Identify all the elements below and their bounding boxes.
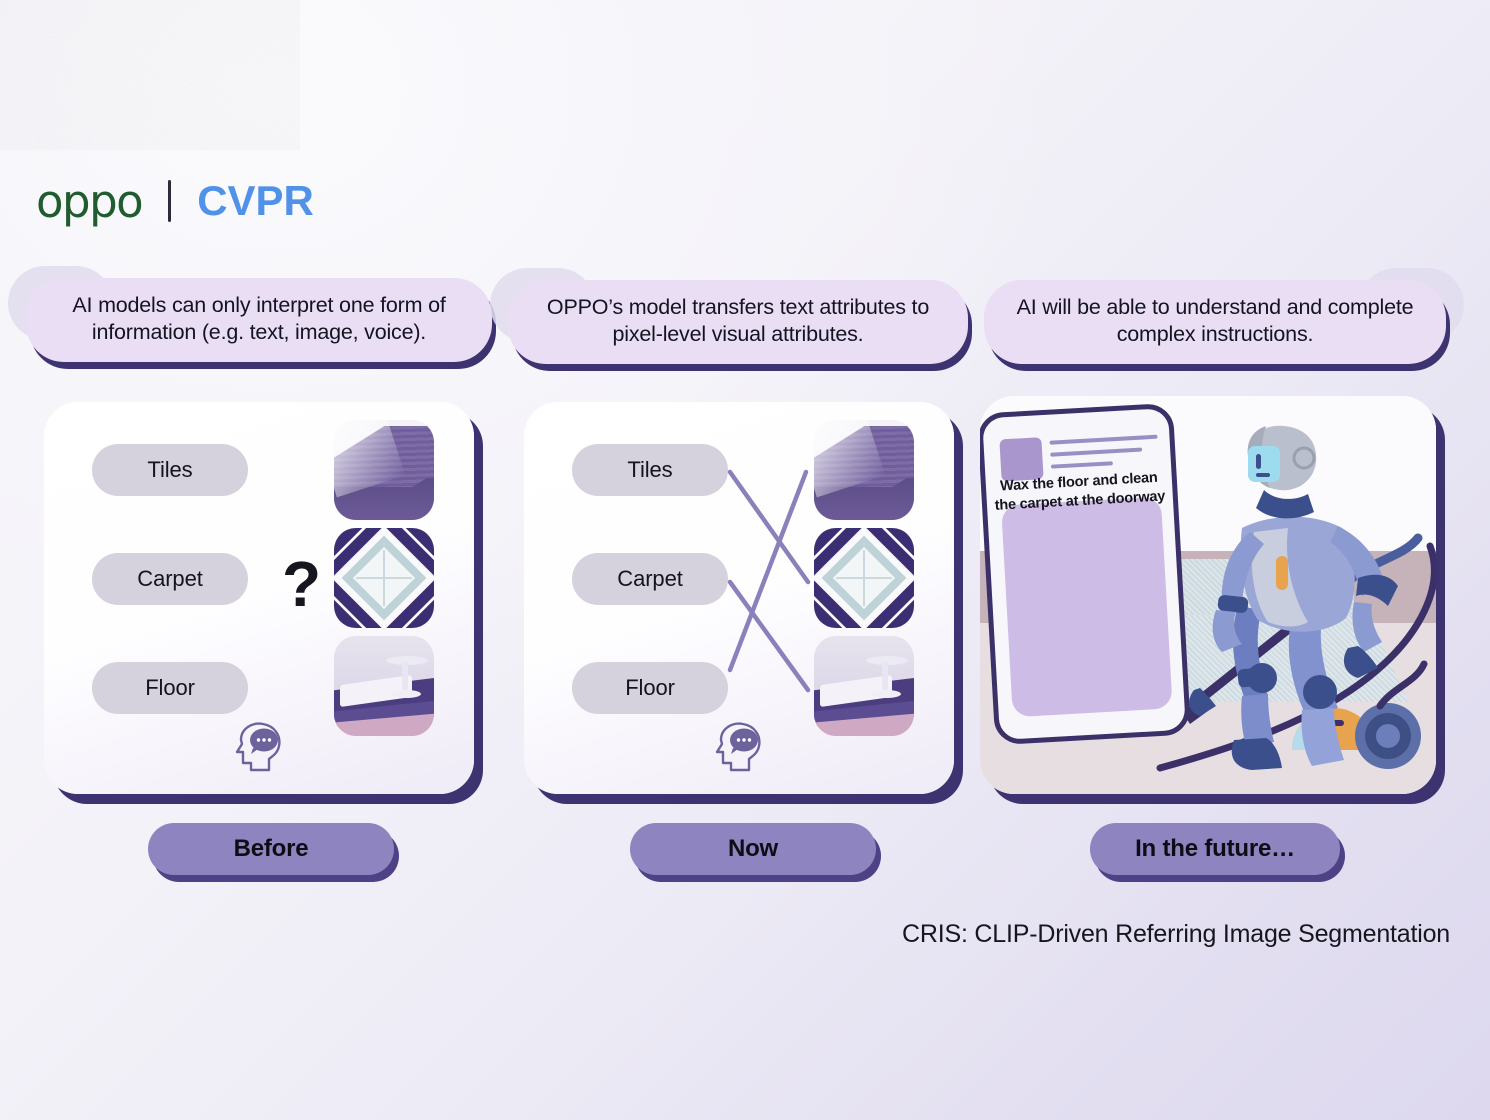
callout-future: AI will be able to understand and comple… [984, 280, 1446, 364]
phone-text-line [1050, 448, 1142, 457]
robot-hand-right [1344, 646, 1378, 678]
label-pill-tiles[interactable]: Tiles [92, 444, 248, 496]
label-pill-floor[interactable]: Floor [92, 662, 248, 714]
question-mark: ? [282, 552, 321, 616]
label-pill-carpet[interactable]: Carpet [572, 553, 728, 605]
callout-future-text: AI will be able to understand and comple… [984, 280, 1446, 364]
robot-foot-back [1232, 738, 1282, 770]
paper-caption: CRIS: CLIP-Driven Referring Image Segmen… [0, 920, 1450, 949]
callout-before: AI models can only interpret one form of… [26, 278, 492, 362]
cvpr-logo: CVPR [197, 180, 314, 222]
robot-eye [1256, 454, 1261, 469]
logo-divider [168, 180, 171, 222]
callout-before-text: AI models can only interpret one form of… [26, 278, 492, 362]
brand-header: oppo CVPR [36, 172, 314, 230]
thumb-crosshair-horizontal [356, 577, 412, 579]
floor-table-thumbnail[interactable] [814, 636, 914, 736]
thumb-table-stem [882, 662, 888, 692]
phone-message-card [1001, 497, 1173, 718]
planks-thumbnail[interactable] [814, 420, 914, 520]
thumb-table-base [871, 690, 901, 698]
robot-vacuuming-illustration: Wax the floor and clean the carpet at th… [980, 396, 1436, 794]
head-speech-bubble-icon [231, 718, 287, 778]
thumb-crosshair-horizontal [836, 577, 892, 579]
robot-head [1248, 426, 1317, 519]
head-speech-bubble-icon [711, 718, 767, 778]
stage-label-future[interactable]: In the future… [1090, 823, 1340, 875]
connector-carpet-to-floor [730, 582, 808, 690]
floor-table-thumbnail[interactable] [334, 636, 434, 736]
phone-text-line [1050, 435, 1158, 445]
stage-label-now[interactable]: Now [630, 823, 876, 875]
robot-figure [1142, 420, 1436, 790]
thumbnail-list-now [814, 420, 914, 736]
carpet-diamond-thumbnail[interactable] [814, 528, 914, 628]
grain-overlay [0, 0, 300, 150]
phone-text-line [1051, 461, 1113, 468]
label-list-now: Tiles Carpet Floor [572, 444, 728, 714]
panel-before: Tiles Carpet Floor ? [44, 402, 474, 794]
thumbnail-list-before [334, 420, 434, 736]
label-pill-carpet[interactable]: Carpet [92, 553, 248, 605]
oppo-logo: oppo [36, 179, 142, 224]
stage-label-before[interactable]: Before [148, 823, 394, 875]
robot-neck [1256, 490, 1314, 518]
panel-now: Tiles Carpet Floor [524, 402, 954, 794]
robot-knee-front [1303, 675, 1337, 709]
robot-chest-light [1276, 556, 1288, 590]
thumb-table-stem [402, 662, 408, 692]
planks-thumbnail[interactable] [334, 420, 434, 520]
thumb-table-base [391, 690, 421, 698]
label-pill-floor[interactable]: Floor [572, 662, 728, 714]
label-pill-tiles[interactable]: Tiles [572, 444, 728, 496]
carpet-diamond-thumbnail[interactable] [334, 528, 434, 628]
robot-mouth [1256, 473, 1270, 477]
phone-mockup[interactable]: Wax the floor and clean the carpet at th… [980, 403, 1191, 745]
callout-now: OPPO’s model transfers text attributes t… [508, 280, 968, 364]
connector-tiles-to-carpet [730, 472, 808, 582]
panel-future: Wax the floor and clean the carpet at th… [980, 396, 1436, 794]
label-list-before: Tiles Carpet Floor [92, 444, 248, 714]
connector-floor-to-planks [730, 472, 806, 670]
callout-now-text: OPPO’s model transfers text attributes t… [508, 280, 968, 364]
